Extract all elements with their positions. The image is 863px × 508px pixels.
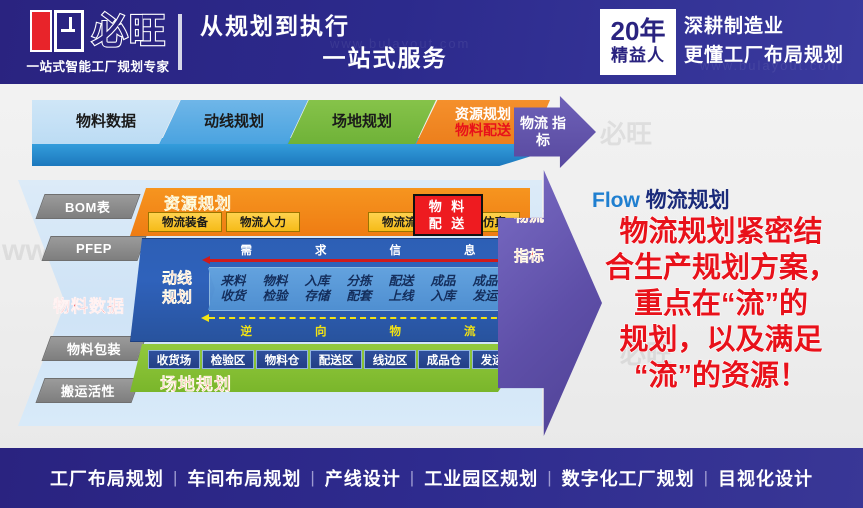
flow-title-line-1: 动线 xyxy=(162,270,192,287)
site-planning-band: 收货场 检验区 物料仓 配送区 线边区 成品仓 发运场 场地规划 xyxy=(130,344,530,392)
panel-body-line-3: 重点在“流”的 xyxy=(582,286,860,322)
panel-body-line-1: 物流规划紧密结 xyxy=(582,214,860,250)
banner-step-flow-planning[interactable]: 动线规划 xyxy=(160,100,308,144)
chip-label: 物料包装 xyxy=(67,339,121,358)
banner-resource-sublabel: 物料配送 xyxy=(455,122,511,138)
resource-cell-equipment[interactable]: 物流装备 xyxy=(148,212,222,232)
diagram-head-line-2: 指标 xyxy=(512,248,546,266)
footer-item-digital-factory[interactable]: 数字化工厂规划 xyxy=(553,465,704,491)
panel-title: Flow 物流规划 xyxy=(592,184,730,214)
site-cell-material-store[interactable]: 物料仓 xyxy=(256,350,308,369)
header-right-line-1: 深耕制造业 xyxy=(684,12,860,41)
flow-title-line-2: 规划 xyxy=(162,289,192,306)
banner-head-line-1: 物流 xyxy=(520,115,548,131)
resource-highlight-distribution[interactable]: 物 料 配 送 xyxy=(413,194,483,236)
flow-step-track: 来料 收货 物料 检验 入库 存储 分拣 配套 配送 上线 成品 入库 xyxy=(209,267,509,311)
flow-step-line-1: 成品 xyxy=(472,274,497,289)
badge-subtitle: 精益人 xyxy=(611,45,665,67)
reverse-logistics-labels: 逆 向 物 流 xyxy=(209,323,507,339)
demand-info-labels: 需 求 信 息 xyxy=(209,242,507,258)
flow-step-line-2: 上线 xyxy=(388,289,413,304)
flow-step-line-2: 收货 xyxy=(220,289,245,304)
flow-step-storage[interactable]: 入库 存储 xyxy=(292,268,342,310)
demand-char-2: 求 xyxy=(315,242,327,258)
demand-info-arrow-icon xyxy=(209,259,507,262)
site-cell-distribution-area[interactable]: 配送区 xyxy=(310,350,362,369)
banner-step-material-data[interactable]: 物料数据 xyxy=(32,100,180,144)
site-cell-receiving-yard[interactable]: 收货场 xyxy=(148,350,200,369)
demand-char-1: 需 xyxy=(241,242,253,258)
logo-tagline: 一站式智能工厂规划专家 xyxy=(22,56,174,75)
reverse-char-2: 向 xyxy=(315,323,327,339)
right-text-panel: Flow 物流规划 物流规划紧密结 合生产规划方案， 重点在“流”的 规划，以及… xyxy=(578,184,863,434)
panel-body-text: 物流规划紧密结 合生产规划方案， 重点在“流”的 规划，以及满足 “流”的资源！ xyxy=(582,214,860,394)
anniversary-badge: 20年 精益人 xyxy=(600,9,676,75)
flow-step-line-2: 配套 xyxy=(346,289,371,304)
page-header: www.bulayout.com www.bulayout.com 必旺 一站式… xyxy=(0,0,863,84)
demand-char-3: 信 xyxy=(390,242,402,258)
header-right-line-2: 更懂工厂布局规划 xyxy=(684,41,860,70)
highlight-line-2: 配 送 xyxy=(429,215,468,232)
panel-body-line-4: 规划，以及满足 xyxy=(582,322,860,358)
flow-step-line-1: 配送 xyxy=(388,274,413,289)
reverse-char-1: 逆 xyxy=(241,323,253,339)
flow-step-line-1: 物料 xyxy=(262,274,287,289)
panel-title-cn: 物流规划 xyxy=(646,189,730,212)
flow-step-line-feeding[interactable]: 配送 上线 xyxy=(376,268,426,310)
flow-step-line-1: 成品 xyxy=(430,274,455,289)
flow-step-line-2: 检验 xyxy=(262,289,287,304)
banner-step-label: 场地规划 xyxy=(332,114,392,130)
footer-item-visual-design[interactable]: 目视化设计 xyxy=(709,465,822,491)
panel-title-en: Flow xyxy=(592,189,640,212)
footer-item-workshop-layout[interactable]: 车间布局规划 xyxy=(178,465,310,491)
diagram-left-title: 物料数据 xyxy=(36,292,142,317)
demand-char-4: 息 xyxy=(464,242,476,258)
chip-pfep[interactable]: PFEP xyxy=(41,236,146,261)
flow-step-inspection[interactable]: 物料 检验 xyxy=(250,268,300,310)
highlight-line-1: 物 料 xyxy=(429,198,468,215)
flow-step-line-2: 存储 xyxy=(304,289,329,304)
resource-planning-title: 资源规划 xyxy=(164,190,232,214)
chip-handling[interactable]: 搬运活性 xyxy=(35,378,140,403)
flow-step-line-1: 来料 xyxy=(220,274,245,289)
site-cell-lineside-area[interactable]: 线边区 xyxy=(364,350,416,369)
logo-text: 必旺 xyxy=(92,8,166,54)
header-divider xyxy=(178,14,182,70)
brand-logo[interactable]: 必旺 一站式智能工厂规划专家 xyxy=(22,6,174,78)
chip-bom[interactable]: BOM表 xyxy=(35,194,140,219)
page-footer: 工厂布局规划 | 车间布局规划 | 产线设计 | 工业园区规划 | 数字化工厂规… xyxy=(0,448,863,508)
banner-step-label: 物料数据 xyxy=(76,114,136,130)
resource-planning-band: 资源规划 物流装备 物流人力 物流流程 物流仿真 物 料 配 送 xyxy=(130,188,530,236)
panel-body-line-5: “流”的资源！ xyxy=(582,358,860,394)
banner-resource-label: 资源规划 xyxy=(455,106,511,122)
site-planning-title: 场地规划 xyxy=(160,370,232,395)
header-right-text: 深耕制造业 更懂工厂布局规划 xyxy=(684,12,860,70)
flow-step-line-2: 入库 xyxy=(430,289,455,304)
logistics-diagram: BOM表 PFEP 物料数据 物料包装 搬运活性 资源规划 物流装备 物流人力 … xyxy=(18,180,598,426)
flow-step-line-2: 发运 xyxy=(472,289,497,304)
header-slogan: 从规划到执行 一站式服务 xyxy=(196,10,526,74)
footer-item-list: 工厂布局规划 | 车间布局规划 | 产线设计 | 工业园区规划 | 数字化工厂规… xyxy=(41,465,822,491)
flow-planning-band: 动线 规划 需 求 信 息 来料 收货 物料 检验 入库 存储 xyxy=(130,238,530,342)
slogan-line-2: 一站式服务 xyxy=(196,42,526,74)
footer-item-industrial-park[interactable]: 工业园区规划 xyxy=(415,465,547,491)
chip-label: 搬运活性 xyxy=(61,381,115,400)
flow-step-fg-warehousing[interactable]: 成品 入库 xyxy=(418,268,468,310)
flow-step-line-1: 入库 xyxy=(304,274,329,289)
flow-planning-title: 动线 规划 xyxy=(153,269,201,307)
reverse-char-3: 物 xyxy=(390,323,402,339)
flow-step-line-1: 分拣 xyxy=(346,274,371,289)
slide-canvas: www.bulayout.com 必旺 必旺 物料数据 动线规划 场地规划 资源… xyxy=(0,84,863,448)
resource-cell-manpower[interactable]: 物流人力 xyxy=(226,212,300,232)
site-cell-inspection-area[interactable]: 检验区 xyxy=(202,350,254,369)
reverse-char-4: 流 xyxy=(464,323,476,339)
flow-step-receiving[interactable]: 来料 收货 xyxy=(208,268,258,310)
canvas-watermark-2: 必旺 xyxy=(600,114,652,151)
site-cell-fg-store[interactable]: 成品仓 xyxy=(418,350,470,369)
chip-label: BOM表 xyxy=(65,197,110,216)
panel-body-line-2: 合生产规划方案， xyxy=(582,250,860,286)
flow-step-sorting[interactable]: 分拣 配套 xyxy=(334,268,384,310)
logo-b-icon xyxy=(54,10,84,52)
chip-label: PFEP xyxy=(76,241,112,256)
reverse-logistics-arrow-icon xyxy=(209,317,507,319)
diagram-head-label: 物流 指标 xyxy=(512,208,546,288)
slogan-line-1: 从规划到执行 xyxy=(196,10,526,42)
banner-step-label: 动线规划 xyxy=(204,114,264,130)
footer-item-factory-layout[interactable]: 工厂布局规划 xyxy=(41,465,173,491)
footer-item-line-design[interactable]: 产线设计 xyxy=(316,465,410,491)
biwang-logo-icon: 必旺 xyxy=(30,8,170,54)
badge-years: 20年 xyxy=(611,17,666,45)
logo-bar-icon xyxy=(30,10,52,52)
banner-step-site-planning[interactable]: 场地规划 xyxy=(288,100,436,144)
process-banner: 物料数据 动线规划 场地规划 资源规划 物料配送 物流 指标 xyxy=(32,100,560,166)
